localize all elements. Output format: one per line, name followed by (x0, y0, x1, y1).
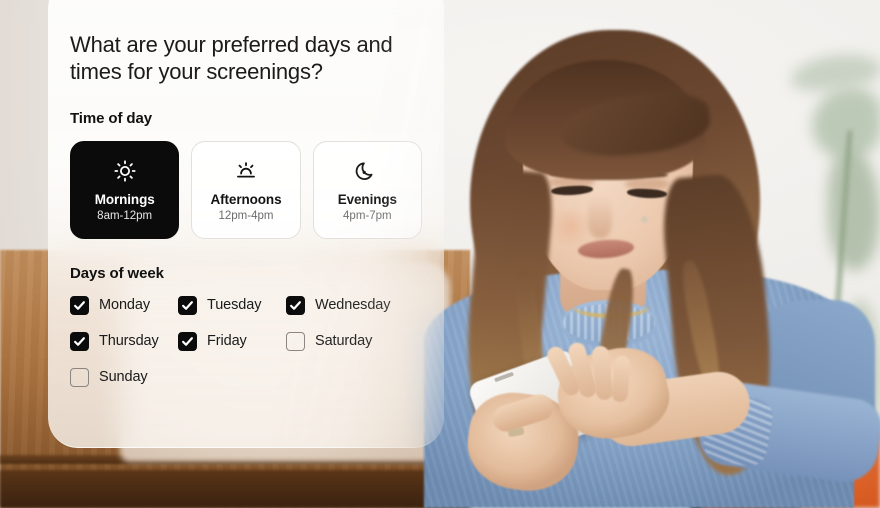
day-label: Thursday (99, 333, 159, 349)
preferences-card: What are your preferred days and times f… (48, 0, 444, 448)
page-title: What are your preferred days and times f… (70, 32, 410, 86)
day-checkbox-tuesday[interactable]: Tuesday (178, 296, 286, 315)
day-checkbox-monday[interactable]: Monday (70, 296, 178, 315)
day-checkbox-wednesday[interactable]: Wednesday (286, 296, 422, 315)
day-label: Monday (99, 297, 150, 313)
finger (611, 355, 630, 402)
time-of-day-option-evenings[interactable]: Evenings 4pm-7pm (313, 141, 422, 239)
checkbox-icon[interactable] (286, 332, 305, 351)
day-checkbox-friday[interactable]: Friday (178, 332, 286, 351)
day-label: Saturday (315, 333, 372, 349)
day-checkbox-sunday[interactable]: Sunday (70, 368, 178, 387)
checkbox-icon[interactable] (70, 332, 89, 351)
time-option-name: Afternoons (210, 192, 281, 207)
time-option-name: Mornings (95, 192, 155, 207)
checkbox-icon[interactable] (178, 296, 197, 315)
day-label: Sunday (99, 369, 148, 385)
time-option-range: 8am-12pm (97, 210, 152, 222)
time-of-day-option-afternoons[interactable]: Afternoons 12pm-4pm (191, 141, 300, 239)
checkbox-icon[interactable] (178, 332, 197, 351)
nose (588, 196, 612, 238)
checkbox-icon[interactable] (70, 296, 89, 315)
sun-icon (113, 158, 137, 184)
days-of-week-options: Monday Tuesday Wednesday (70, 296, 422, 387)
day-label: Wednesday (315, 297, 390, 313)
sunset-icon (234, 158, 258, 184)
earring (641, 216, 648, 223)
day-checkbox-thursday[interactable]: Thursday (70, 332, 178, 351)
day-label: Friday (207, 333, 247, 349)
day-label: Tuesday (207, 297, 261, 313)
moon-icon (355, 158, 379, 184)
time-of-day-label: Time of day (70, 110, 422, 127)
time-of-day-options: Mornings 8am-12pm Afternoons 12pm-4pm (70, 141, 422, 239)
time-option-name: Evenings (338, 192, 397, 207)
days-of-week-label: Days of week (70, 265, 422, 282)
checkbox-icon[interactable] (70, 368, 89, 387)
day-checkbox-saturday[interactable]: Saturday (286, 332, 422, 351)
checkbox-icon[interactable] (286, 296, 305, 315)
time-of-day-option-mornings[interactable]: Mornings 8am-12pm (70, 141, 179, 239)
wood-base-shadow (0, 470, 470, 508)
time-option-range: 4pm-7pm (343, 210, 392, 222)
time-option-range: 12pm-4pm (219, 210, 274, 222)
